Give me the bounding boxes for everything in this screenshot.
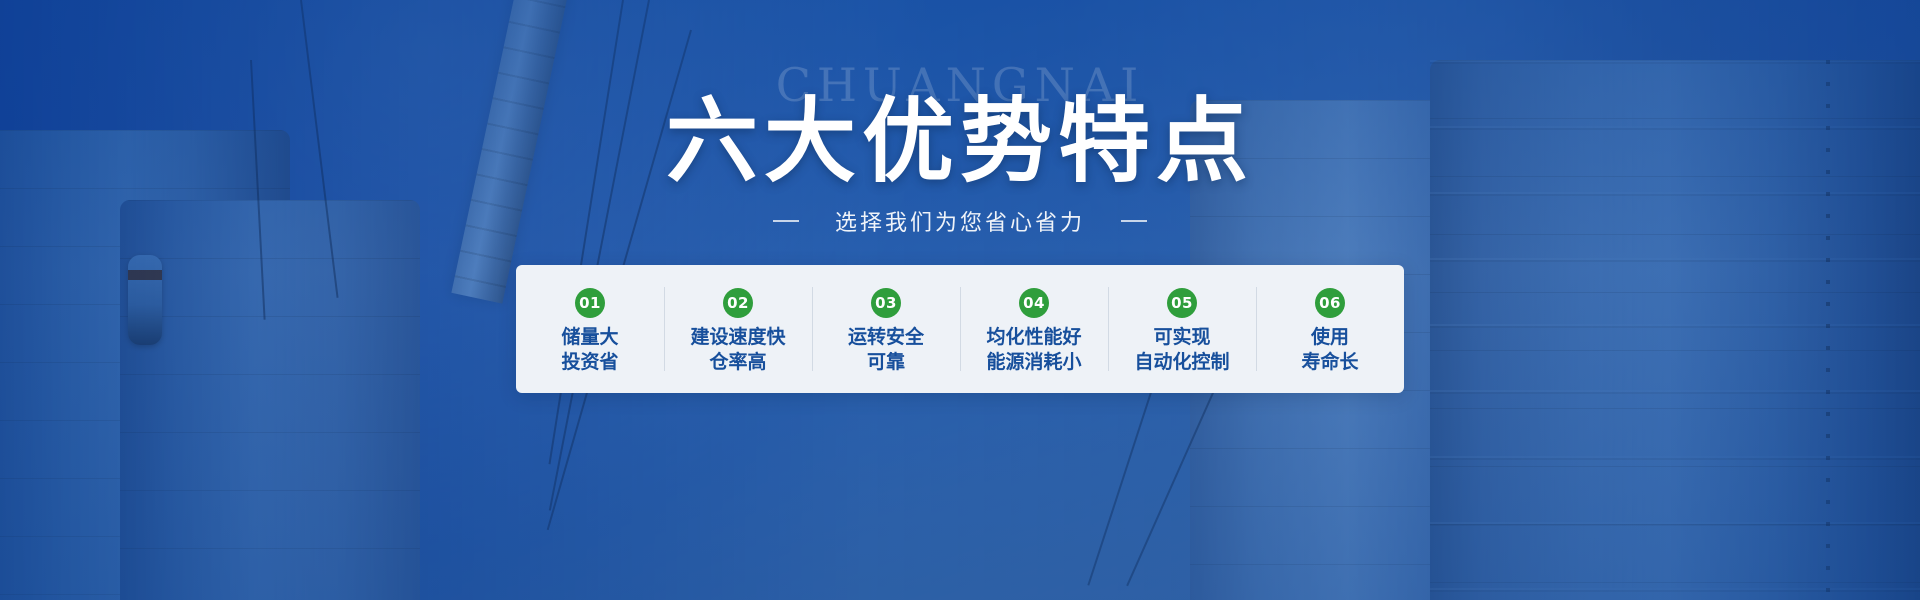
feature-item-01[interactable]: 01 储量大 投资省 (516, 265, 664, 393)
advantages-banner: CHUANGNAI 六大优势特点 选择我们为您省心省力 01 储量大 投资省 0… (0, 0, 1920, 600)
feature-number-badge: 03 (871, 288, 901, 318)
feature-label-line1: 运转安全 (848, 325, 924, 350)
feature-number-badge: 01 (575, 288, 605, 318)
divider-dash-right (1121, 220, 1147, 222)
feature-item-06[interactable]: 06 使用 寿命长 (1256, 265, 1404, 393)
feature-label: 可实现 自动化控制 (1134, 325, 1229, 375)
features-card: 01 储量大 投资省 02 建设速度快 仓率高 03 运转安全 可靠 (516, 265, 1404, 393)
feature-number-badge: 02 (723, 288, 753, 318)
feature-label-line2: 投资省 (561, 350, 618, 375)
feature-label-line1: 使用 (1301, 325, 1358, 350)
feature-label: 建设速度快 仓率高 (690, 325, 785, 375)
feature-number-badge: 05 (1167, 288, 1197, 318)
feature-item-02[interactable]: 02 建设速度快 仓率高 (664, 265, 812, 393)
feature-label: 储量大 投资省 (561, 325, 618, 375)
feature-item-04[interactable]: 04 均化性能好 能源消耗小 (960, 265, 1108, 393)
feature-label-line1: 建设速度快 (690, 325, 785, 350)
page-subtitle: 选择我们为您省心省力 (835, 205, 1085, 237)
feature-label-line2: 寿命长 (1301, 350, 1358, 375)
feature-label: 使用 寿命长 (1301, 325, 1358, 375)
feature-number-badge: 06 (1315, 288, 1345, 318)
subtitle-row: 选择我们为您省心省力 (773, 205, 1147, 237)
feature-label-line1: 均化性能好 (986, 325, 1081, 350)
feature-label-line2: 能源消耗小 (986, 350, 1081, 375)
feature-item-03[interactable]: 03 运转安全 可靠 (812, 265, 960, 393)
feature-number-badge: 04 (1019, 288, 1049, 318)
banner-content: CHUANGNAI 六大优势特点 选择我们为您省心省力 01 储量大 投资省 0… (0, 0, 1920, 600)
feature-label-line2: 可靠 (848, 350, 924, 375)
feature-label-line1: 可实现 (1134, 325, 1229, 350)
feature-label-line2: 自动化控制 (1134, 350, 1229, 375)
feature-label-line1: 储量大 (561, 325, 618, 350)
divider-dash-left (773, 220, 799, 222)
feature-label-line2: 仓率高 (690, 350, 785, 375)
feature-label: 均化性能好 能源消耗小 (986, 325, 1081, 375)
page-title: 六大优势特点 (666, 92, 1254, 191)
feature-item-05[interactable]: 05 可实现 自动化控制 (1108, 265, 1256, 393)
feature-label: 运转安全 可靠 (848, 325, 924, 375)
